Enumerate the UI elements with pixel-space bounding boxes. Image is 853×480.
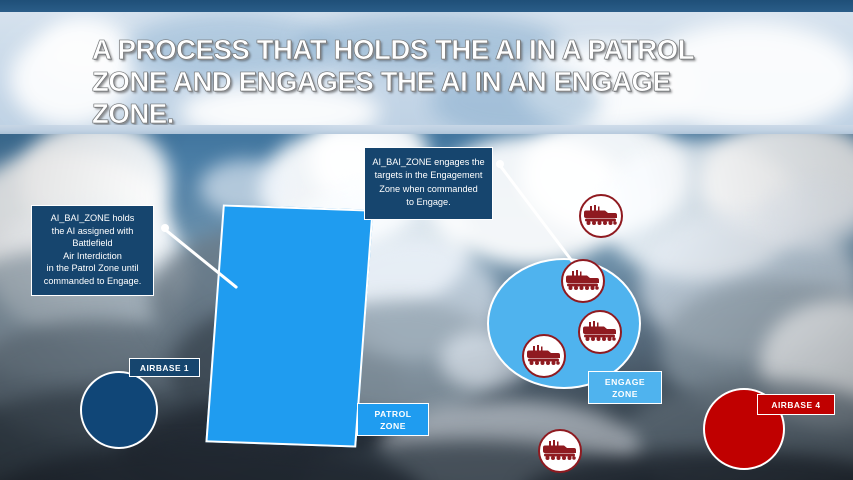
title-banner: A process that holds the AI in a patrol … xyxy=(0,12,853,125)
target-icon-3[interactable] xyxy=(578,310,622,354)
label-airbase-1[interactable]: AIRBASE 1 xyxy=(129,358,200,377)
banner-divider xyxy=(0,125,853,134)
page-title: A process that holds the AI in a patrol … xyxy=(92,34,792,125)
target-icon-2[interactable] xyxy=(561,259,605,303)
top-strip xyxy=(0,0,853,12)
connector-top-endpoint xyxy=(496,160,504,168)
target-icon-5[interactable] xyxy=(538,429,582,473)
patrol-zone-area[interactable] xyxy=(205,204,373,447)
label-airbase-4[interactable]: AIRBASE 4 xyxy=(757,394,835,415)
label-engage-zone[interactable]: ENGAGE ZONE xyxy=(588,371,662,404)
slide-canvas: A process that holds the AI in a patrol … xyxy=(0,0,853,480)
target-icon-1[interactable] xyxy=(579,194,623,238)
target-icon-4[interactable] xyxy=(522,334,566,378)
airbase-1-marker[interactable] xyxy=(80,371,158,449)
callout-patrol-description[interactable]: AI_BAI_ZONE holds the AI assigned with B… xyxy=(31,205,154,296)
label-patrol-zone[interactable]: PATROL ZONE xyxy=(357,403,429,436)
callout-engage-description[interactable]: AI_BAI_ZONE engages the targets in the E… xyxy=(364,147,493,220)
connector-left-endpoint xyxy=(161,224,169,232)
